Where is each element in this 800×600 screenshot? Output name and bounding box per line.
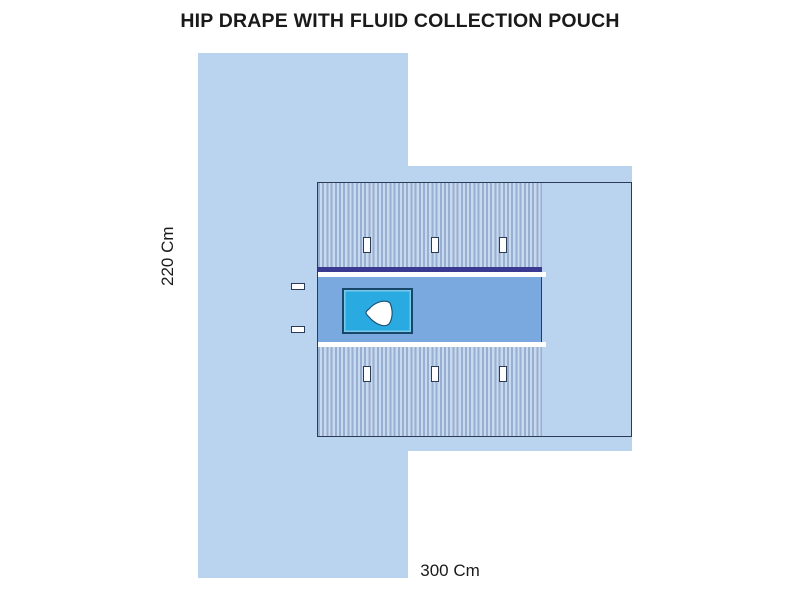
reinforced-panel-top (318, 183, 542, 272)
reinforced-panel-bottom (318, 347, 542, 436)
diagram-canvas: HIP DRAPE WITH FLUID COLLECTION POUCH (0, 0, 800, 600)
tube-holder-bottom-2 (431, 366, 439, 382)
dimension-label-width: 300 Cm (380, 561, 520, 581)
tube-holder-top-3 (499, 237, 507, 253)
fluid-collection-band (318, 277, 542, 344)
tube-holder-top-1 (363, 237, 371, 253)
page-title: HIP DRAPE WITH FLUID COLLECTION POUCH (0, 10, 800, 33)
tube-holder-top-2 (431, 237, 439, 253)
adhesive-tab-lower (291, 326, 305, 333)
drape-field (317, 182, 632, 437)
dimension-label-height: 220 Cm (158, 246, 178, 286)
fenestration-window (342, 288, 413, 334)
tube-holder-bottom-1 (363, 366, 371, 382)
fenestration-opening-icon (363, 300, 393, 327)
tube-holder-bottom-3 (499, 366, 507, 382)
adhesive-tab-upper (291, 283, 305, 290)
